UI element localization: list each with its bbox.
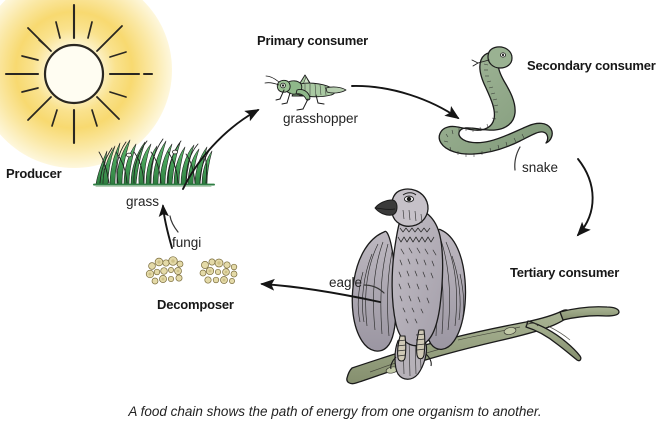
label-tertiary-consumer: Tertiary consumer	[510, 266, 619, 279]
label-snake: snake	[522, 161, 558, 175]
arrow-snake-to-eagle	[578, 159, 593, 235]
label-eagle: eagle	[329, 276, 362, 290]
grass-illustration	[94, 139, 214, 186]
label-producer: Producer	[6, 167, 61, 180]
arrow-fungi-to-grass	[163, 206, 172, 248]
fungi-illustration	[146, 257, 237, 284]
leader-line-fungi	[170, 216, 178, 232]
label-grass: grass	[126, 195, 159, 209]
label-primary-consumer: Primary consumer	[257, 34, 368, 47]
label-fungi: fungi	[172, 236, 201, 250]
food-chain-diagram: Producer Primary consumer Secondary cons…	[0, 0, 670, 438]
diagram-caption: A food chain shows the path of energy fr…	[0, 404, 670, 419]
label-decomposer: Decomposer	[157, 298, 234, 311]
arrow-grasshopper-to-snake	[352, 86, 458, 118]
label-secondary-consumer: Secondary consumer	[527, 59, 656, 72]
grasshopper-illustration	[265, 75, 346, 110]
leader-line-snake	[515, 147, 520, 170]
sun-icon	[6, 5, 152, 143]
label-grasshopper: grasshopper	[283, 112, 358, 126]
